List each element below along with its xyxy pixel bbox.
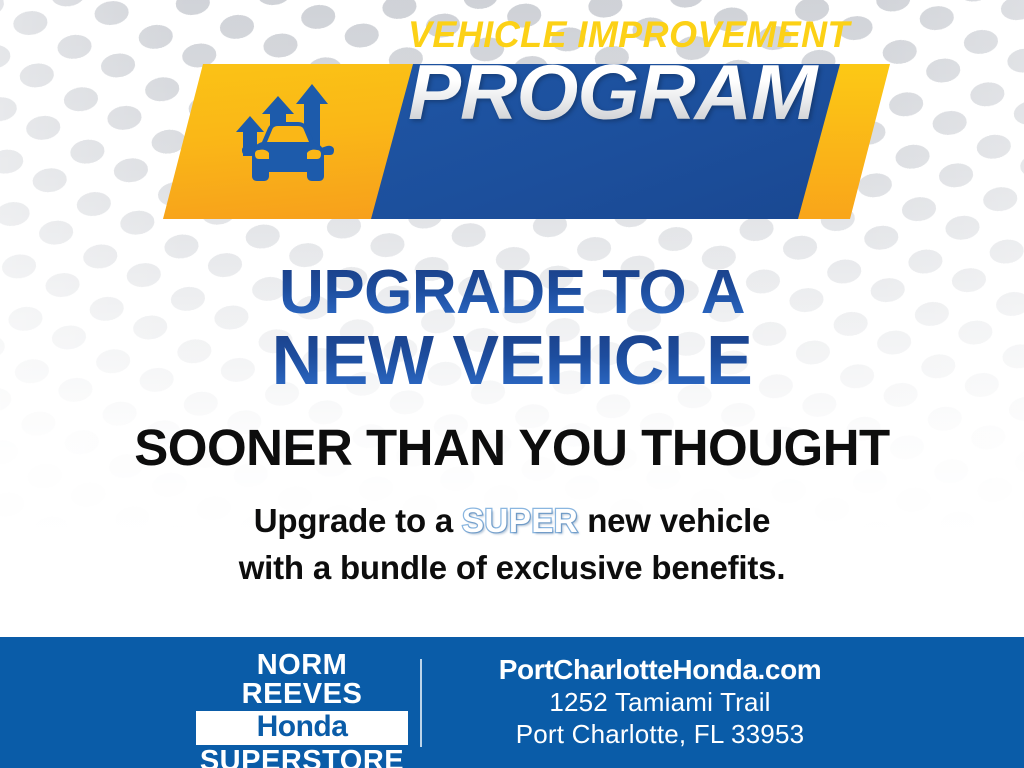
body-copy-line-2: with a bundle of exclusive benefits. (0, 545, 1024, 592)
advertisement-banner: VEHICLE IMPROVEMENT PROGRAM UPGRADE TO A… (0, 0, 1024, 768)
body-copy-line-1-after: new vehicle (587, 502, 770, 539)
logo-norm-reeves: NORM REEVES (196, 651, 408, 709)
footer-divider (420, 659, 422, 747)
headline-line-2: NEW VEHICLE (0, 325, 1024, 395)
contact-website[interactable]: PortCharlotteHonda.com (440, 653, 880, 686)
logo-superstore: SUPERSTORE (196, 747, 408, 768)
footer-bar: NORM REEVES Honda SUPERSTORE PORT CHARLO… (0, 637, 1024, 768)
headline-line-1: UPGRADE TO A (0, 262, 1024, 324)
subheadline: SOONER THAN YOU THOUGHT (0, 422, 1024, 473)
logo-honda-box: Honda (196, 711, 408, 745)
body-copy-line-1-before: Upgrade to a (254, 502, 453, 539)
headline-block: UPGRADE TO A NEW VEHICLE (0, 262, 1024, 395)
contact-block: PortCharlotteHonda.com 1252 Tamiami Trai… (440, 653, 880, 751)
body-copy: Upgrade to a SUPER new vehicle with a bu… (0, 498, 1024, 592)
contact-street: 1252 Tamiami Trail (440, 686, 880, 718)
car-with-rising-arrows-icon (222, 76, 342, 201)
dealership-logo: NORM REEVES Honda SUPERSTORE PORT CHARLO… (196, 651, 408, 768)
contact-city-state-zip: Port Charlotte, FL 33953 (440, 718, 880, 750)
super-highlight-word: SUPER (462, 502, 578, 539)
body-copy-line-1: Upgrade to a SUPER new vehicle (0, 498, 1024, 545)
banner-title-line-2: PROGRAM (408, 55, 847, 130)
logo-honda: Honda (196, 712, 408, 743)
banner-title-block: VEHICLE IMPROVEMENT PROGRAM (408, 16, 838, 130)
